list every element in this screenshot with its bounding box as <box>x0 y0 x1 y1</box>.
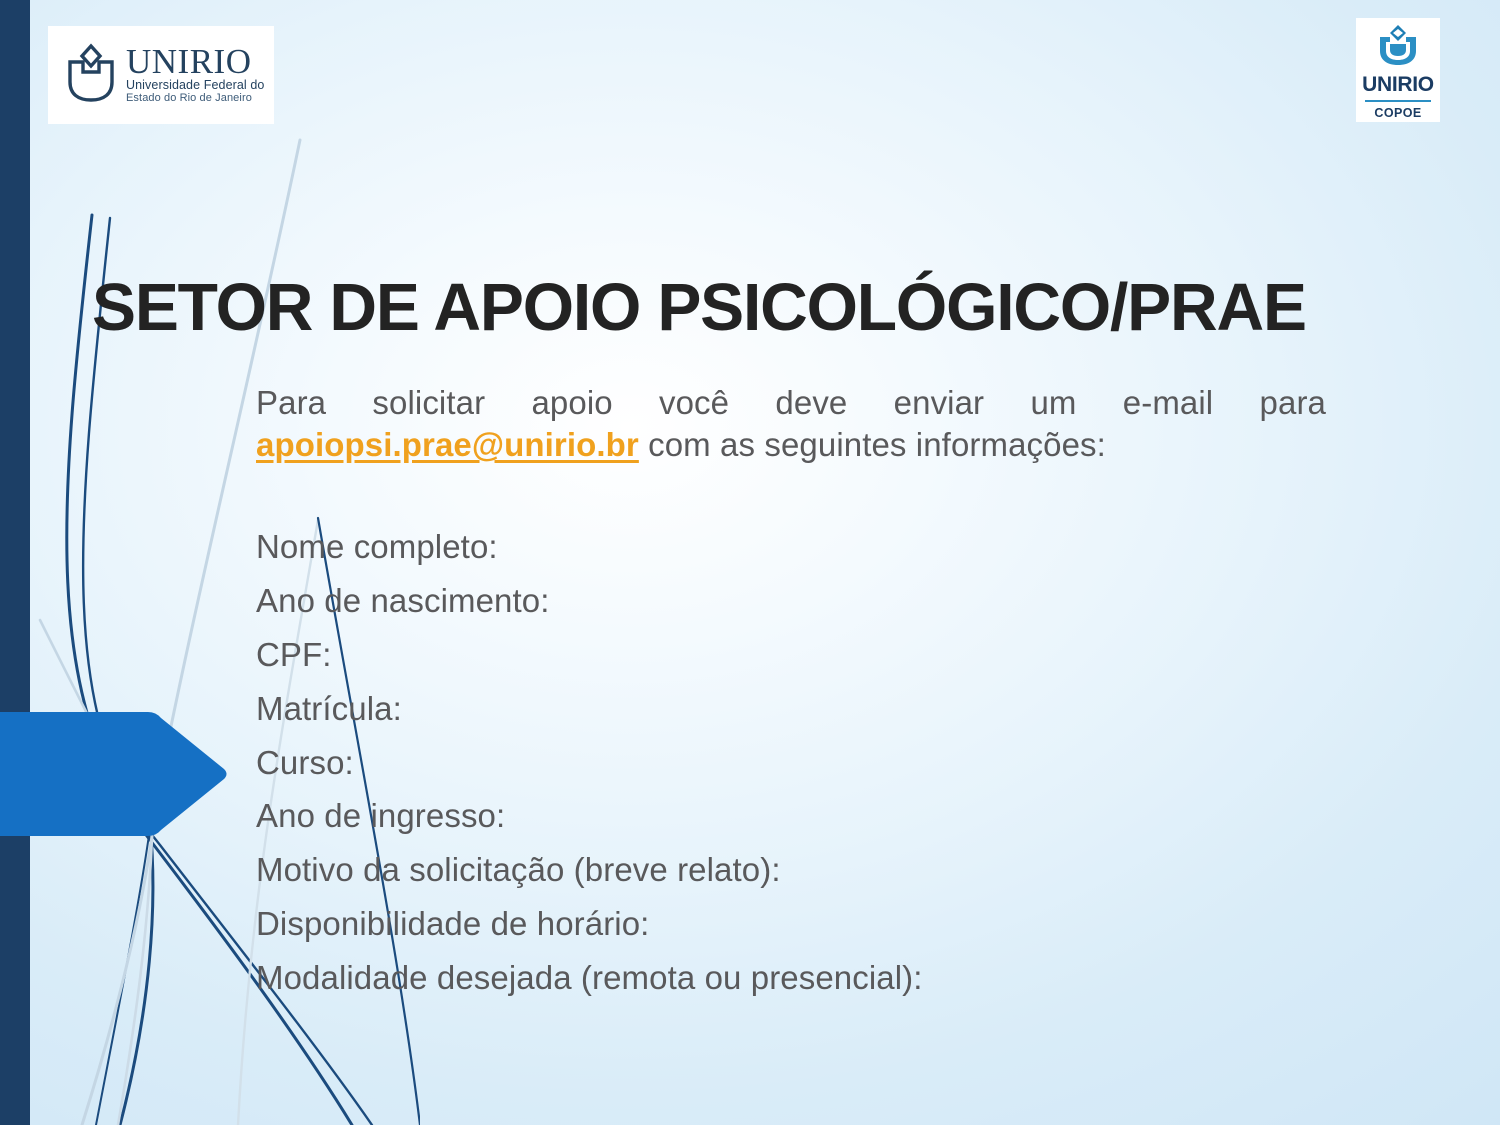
copoe-divider <box>1365 100 1431 102</box>
requested-fields-list: Nome completo: Ano de nascimento: CPF: M… <box>256 520 1326 1004</box>
intro-text-before: Para solicitar apoio você deve enviar um… <box>256 384 1326 421</box>
intro-text-after: com as seguintes informações: <box>639 426 1106 463</box>
slide-body: Para solicitar apoio você deve enviar um… <box>256 382 1326 1005</box>
copoe-logo-unit: COPOE <box>1374 106 1421 120</box>
list-item: Motivo da solicitação (breve relato): <box>256 843 1326 897</box>
list-item: Ano de ingresso: <box>256 789 1326 843</box>
copoe-logo: UNIRIO COPOE <box>1356 18 1440 122</box>
unirio-emblem-icon <box>62 42 120 109</box>
copoe-logo-name: UNIRIO <box>1362 73 1434 97</box>
list-item: Modalidade desejada (remota ou presencia… <box>256 951 1326 1005</box>
list-item: Matrícula: <box>256 682 1326 736</box>
unirio-logo: UNIRIO Universidade Federal do Estado do… <box>48 26 274 124</box>
presentation-slide: UNIRIO Universidade Federal do Estado do… <box>0 0 1500 1125</box>
blue-arrow-shape <box>0 709 228 839</box>
left-accent-strip <box>0 0 30 1125</box>
slide-title: SETOR DE APOIO PSICOLÓGICO/PRAE <box>92 273 1402 343</box>
email-link[interactable]: apoiopsi.prae@unirio.br <box>256 426 639 463</box>
list-item: Curso: <box>256 736 1326 790</box>
copoe-emblem-icon <box>1375 23 1421 72</box>
unirio-logo-name: UNIRIO <box>126 45 265 78</box>
unirio-logo-line2: Estado do Rio de Janeiro <box>126 92 265 105</box>
list-item: CPF: <box>256 628 1326 682</box>
list-item: Disponibilidade de horário: <box>256 897 1326 951</box>
unirio-logo-line1: Universidade Federal do <box>126 78 265 92</box>
intro-paragraph: Para solicitar apoio você deve enviar um… <box>256 382 1326 466</box>
list-item: Nome completo: <box>256 520 1326 574</box>
list-item: Ano de nascimento: <box>256 574 1326 628</box>
